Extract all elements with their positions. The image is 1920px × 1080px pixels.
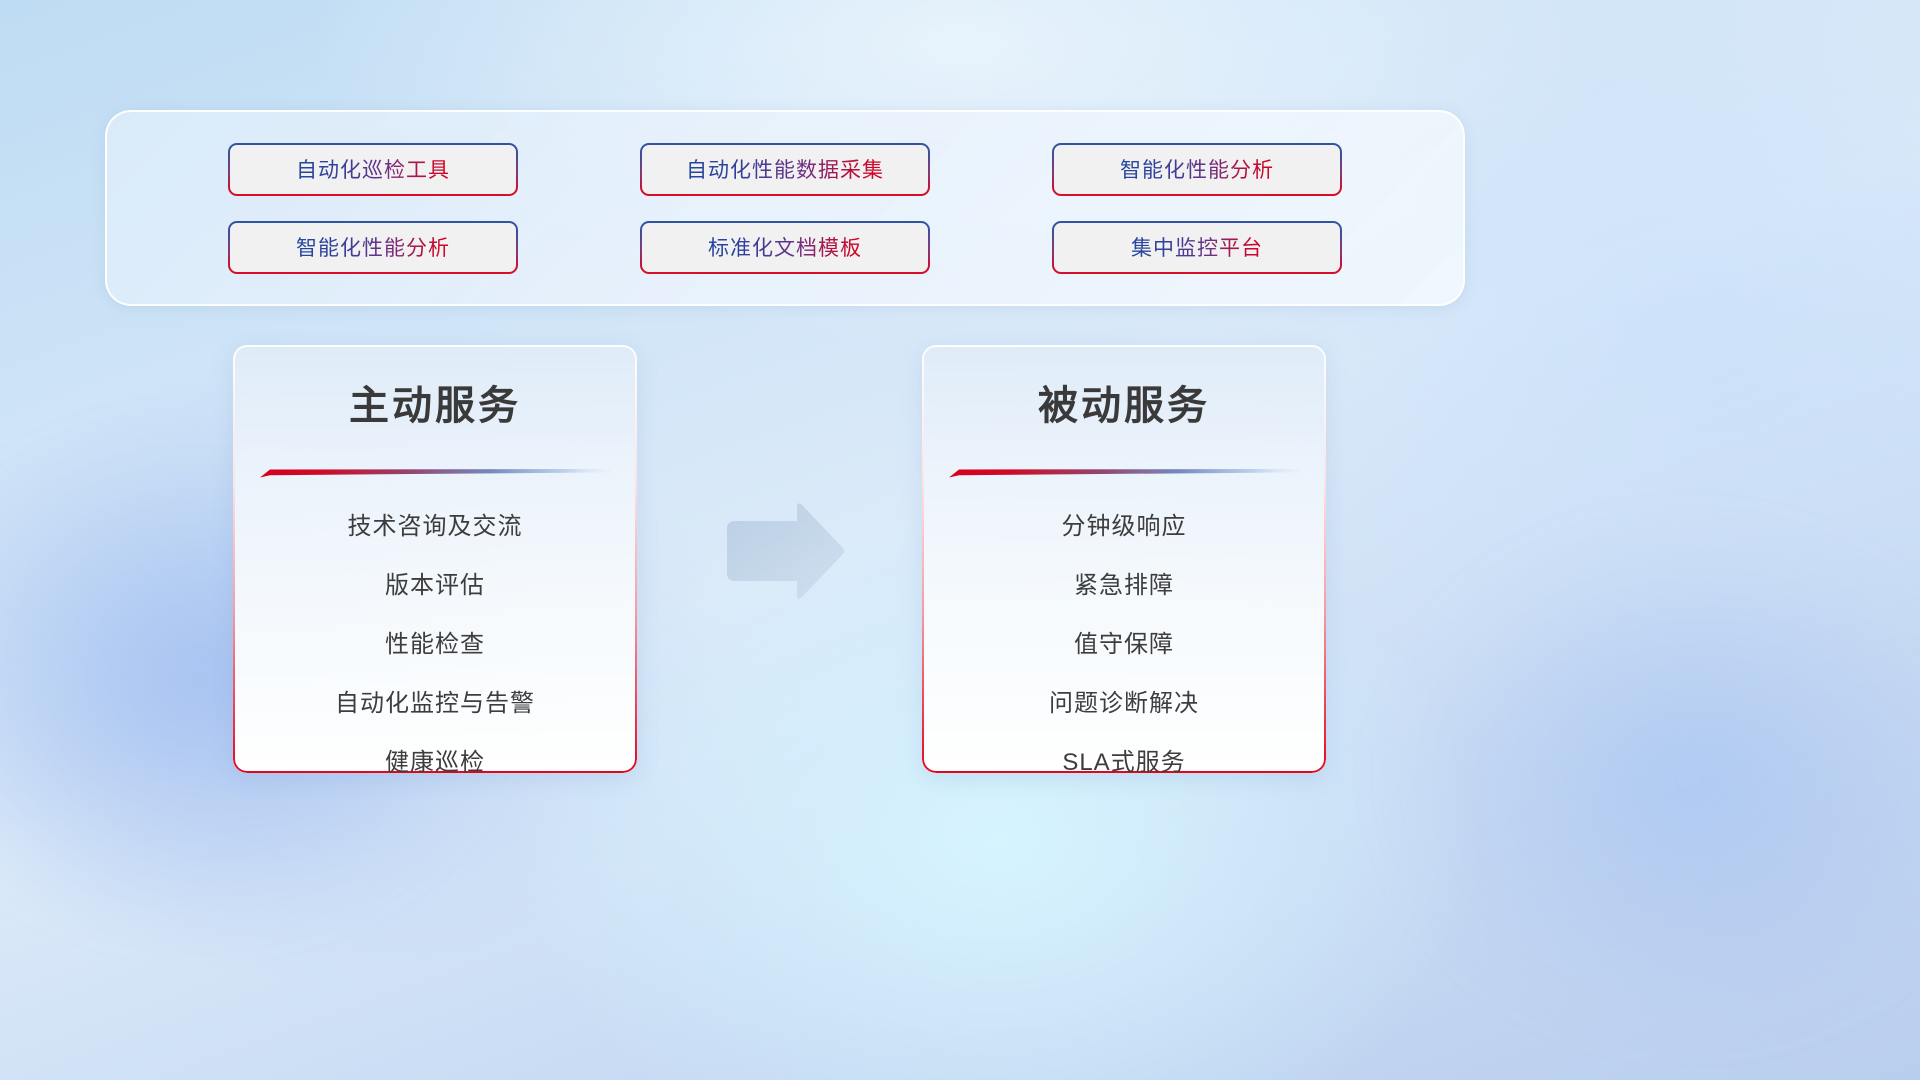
title-divider (260, 465, 612, 481)
capability-tags-panel: 自动化巡检工具 自动化性能数据采集 智能化性能分析 智能化性能分析 标准化文档模… (105, 110, 1465, 306)
capability-tag-label: 自动化性能数据采集 (686, 154, 884, 184)
capability-tag-label: 智能化性能分析 (296, 232, 450, 262)
service-item: 问题诊断解决 (922, 674, 1326, 733)
capability-tag[interactable]: 自动化性能数据采集 (640, 143, 930, 196)
capability-tag[interactable]: 集中监控平台 (1052, 221, 1342, 274)
capability-tag[interactable]: 自动化巡检工具 (228, 143, 518, 196)
capability-tag[interactable]: 智能化性能分析 (228, 221, 518, 274)
service-card-active: 主动服务 技术咨询及交流 版本评估 性能检查 自动化监控与告警 健康巡检 (233, 345, 637, 773)
card-title: 主动服务 (233, 373, 637, 431)
capability-tag-label: 自动化巡检工具 (296, 154, 450, 184)
service-item: 值守保障 (922, 615, 1326, 674)
capability-tag-label: 智能化性能分析 (1120, 154, 1274, 184)
service-item: 分钟级响应 (922, 497, 1326, 556)
service-item: 性能检查 (233, 615, 637, 674)
service-item: 健康巡检 (233, 733, 637, 773)
slide-canvas: 自动化巡检工具 自动化性能数据采集 智能化性能分析 智能化性能分析 标准化文档模… (0, 0, 1920, 1080)
service-item: 自动化监控与告警 (233, 674, 637, 733)
capability-tag[interactable]: 标准化文档模板 (640, 221, 930, 274)
capability-tag[interactable]: 智能化性能分析 (1052, 143, 1342, 196)
service-item: 紧急排障 (922, 556, 1326, 615)
service-card-passive: 被动服务 分钟级响应 紧急排障 值守保障 问题诊断解决 SLA式服务 (922, 345, 1326, 773)
service-item: 技术咨询及交流 (233, 497, 637, 556)
card-title: 被动服务 (922, 373, 1326, 431)
capability-tag-label: 标准化文档模板 (708, 232, 862, 262)
title-divider (949, 465, 1301, 481)
service-item-list: 技术咨询及交流 版本评估 性能检查 自动化监控与告警 健康巡检 (233, 497, 637, 773)
service-item: 版本评估 (233, 556, 637, 615)
capability-tag-label: 集中监控平台 (1131, 232, 1263, 262)
service-item: SLA式服务 (922, 733, 1326, 773)
right-arrow-icon (719, 503, 847, 603)
service-item-list: 分钟级响应 紧急排障 值守保障 问题诊断解决 SLA式服务 (922, 497, 1326, 773)
